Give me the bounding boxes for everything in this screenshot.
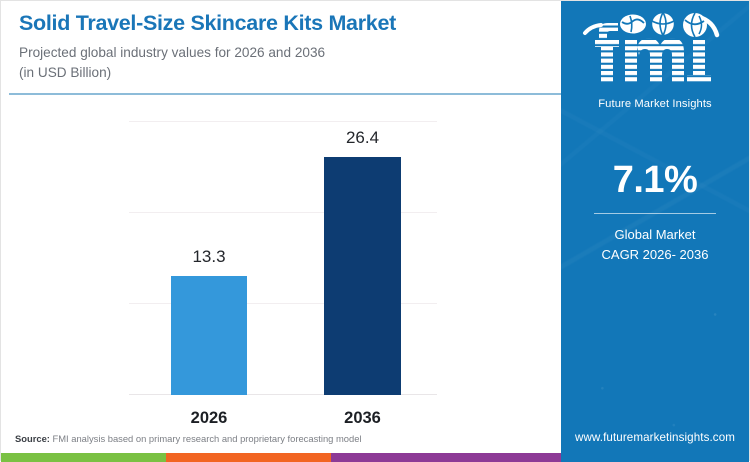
x-label-2036: 2036 [344,409,381,428]
globe-icon-2 [652,13,675,36]
fmi-logo[interactable]: Future Market Insights [561,9,749,110]
cagr-value: 7.1% [561,161,749,199]
source-note: Source: FMI analysis based on primary re… [15,433,362,444]
bar-value-2036: 26.4 [346,128,379,148]
gridline-top [129,121,437,122]
page-subtitle: Projected global industry values for 202… [19,43,547,82]
website-url[interactable]: www.futuremarketinsights.com [561,431,749,444]
source-label: Source: [15,433,50,444]
cagr-caption-line-2: CAGR 2026- 2036 [561,245,749,265]
bar-chart-plot: 13.3 2026 26.4 2036 [129,119,437,395]
header-divider [9,93,563,95]
subtitle-line-1: Projected global industry values for 202… [19,43,547,62]
fmi-logo-icon [575,9,735,97]
bar-rect-2036 [324,157,401,395]
swoosh-left-icon [585,25,601,33]
globe-icon-3 [683,13,707,37]
source-text: FMI analysis based on primary research a… [50,433,362,444]
infographic-canvas: Solid Travel-Size Skincare Kits Market P… [0,0,750,461]
chart-region: Solid Travel-Size Skincare Kits Market P… [1,1,563,462]
bar-rect-2026 [171,276,247,395]
cagr-highlight: 7.1% Global Market CAGR 2026- 2036 [561,161,749,265]
x-label-2026: 2026 [191,409,228,428]
bar-2026[interactable]: 13.3 2026 [171,276,247,395]
cagr-divider [594,213,716,214]
subtitle-line-2: (in USD Billion) [19,63,547,82]
cagr-caption-line-1: Global Market [561,225,749,245]
page-title: Solid Travel-Size Skincare Kits Market [19,11,547,36]
brand-panel: Future Market Insights 7.1% Global Marke… [561,1,749,462]
logo-tagline: Future Market Insights [561,98,749,110]
globe-icon-1 [620,15,646,34]
bar-2036[interactable]: 26.4 2036 [324,157,401,395]
header: Solid Travel-Size Skincare Kits Market P… [19,11,547,82]
bar-value-2026: 13.3 [192,247,225,267]
